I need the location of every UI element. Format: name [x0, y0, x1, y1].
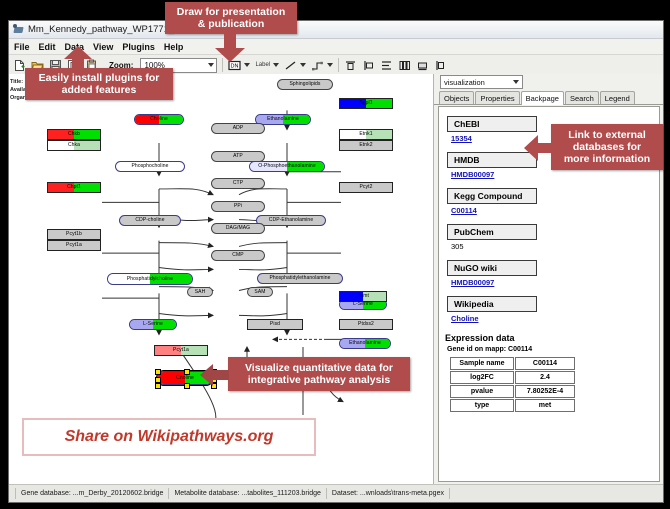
- cell-key-type: type: [450, 399, 514, 412]
- menu-item-plugins[interactable]: Plugins: [122, 42, 155, 52]
- status-dataset: Dataset: ...wnloads\trans-meta.pgex: [327, 488, 450, 499]
- tab-backpage[interactable]: Backpage: [521, 91, 564, 105]
- node-label: Chkb: [68, 132, 80, 137]
- visualization-value: visualization: [444, 78, 485, 87]
- node-label: CDP-choline: [135, 218, 164, 223]
- node-label: CTP: [233, 181, 243, 186]
- tab-objects[interactable]: Objects: [439, 91, 474, 104]
- gene-node-chka-1[interactable]: Chka: [47, 140, 101, 151]
- node-label: Ethanolamine: [267, 117, 299, 122]
- callout-links: Link to external databases for more info…: [551, 124, 663, 170]
- stack-icon[interactable]: [416, 59, 429, 72]
- metabolite-node-phosphocholine-3[interactable]: Phosphocholine: [115, 161, 185, 172]
- cell-value-sample-name: C00114: [515, 357, 575, 370]
- node-label: Pisd: [270, 322, 280, 327]
- node-label: Choline: [176, 376, 194, 381]
- node-label: PPi: [234, 204, 242, 209]
- menu-item-edit[interactable]: Edit: [39, 42, 56, 52]
- menu-bar[interactable]: File Edit Data View Plugins Help: [9, 39, 663, 55]
- chevron-down-icon: [513, 80, 519, 84]
- chevron-down-icon[interactable]: [273, 63, 279, 67]
- table-row: log2FC 2.4: [450, 371, 575, 384]
- node-label: L-Serine: [353, 302, 373, 307]
- node-label: L-Serine: [143, 322, 163, 327]
- tab-legend[interactable]: Legend: [600, 91, 635, 104]
- node-label: Chpt1: [67, 185, 81, 190]
- metabolite-node-ppi-cof3[interactable]: PPi: [211, 201, 265, 212]
- node-label: ATP: [233, 154, 243, 159]
- metabolite-node-cmp-cof5[interactable]: CMP: [211, 250, 265, 261]
- app-icon: [13, 24, 24, 35]
- callout-draw-line1: Draw for presentation: [177, 6, 286, 18]
- callout-links-arrow-icon: [524, 133, 554, 168]
- metabolite-node-adp-cof0[interactable]: ADP: [211, 123, 265, 134]
- callout-links-line1: Link to external: [568, 129, 646, 141]
- metabolite-node-ethanolamine-13[interactable]: Ethanolamine: [339, 338, 391, 349]
- chevron-down-icon[interactable]: [327, 63, 333, 67]
- callout-visualize-line1: Visualize quantitative data for: [245, 362, 393, 374]
- callout-plugins-line2: added features: [62, 84, 137, 96]
- line-icon[interactable]: [284, 59, 297, 72]
- table-row: Sample name C00114: [450, 357, 575, 370]
- distribute-icon[interactable]: [380, 59, 393, 72]
- share-banner-text: Share on Wikipathways.org: [65, 428, 274, 446]
- node-label: CDP-Ethanolamine: [269, 218, 313, 223]
- cell-value-pvalue: 7.80252E-4: [515, 385, 575, 398]
- chevron-down-icon[interactable]: [300, 63, 306, 67]
- metabolite-node-cdp-ethanolamine-6[interactable]: CDP-Ethanolamine: [256, 215, 326, 226]
- title-bar: Mm_Kennedy_pathway_WP1771_45176.gpml: [9, 21, 663, 39]
- section-header-wikipedia: Wikipedia: [447, 296, 537, 312]
- metabolite-node-l-serine-11[interactable]: L-Serine: [129, 319, 177, 330]
- metabolite-node-atp-cof1[interactable]: ATP: [211, 151, 265, 162]
- cell-value-type: met: [515, 399, 575, 412]
- metabolite-node-choline-1[interactable]: Choline: [134, 114, 184, 125]
- callout-draw-line2: & publication: [198, 18, 265, 30]
- node-label: Chka: [68, 143, 80, 148]
- table-row: type met: [450, 399, 575, 412]
- metabolite-node-dag-mag-cof4[interactable]: DAG/MAG: [211, 223, 265, 234]
- metabolite-node-o-phosphoethanolamine-4[interactable]: O-Phosphoethanolamine: [249, 161, 325, 172]
- node-label: Pemt: [357, 294, 369, 299]
- callout-plugins-arrow-icon: [62, 46, 94, 77]
- status-metabolite-database: Metabolite database: ...tabolites_111203…: [169, 488, 326, 499]
- gene-node-sgpl1-5[interactable]: Sgpl1: [339, 98, 393, 109]
- callout-draw: Draw for presentation & publication: [165, 2, 297, 34]
- cell-key-pvalue: pvalue: [450, 385, 514, 398]
- gene-node-chpt1-2[interactable]: Chpt1: [47, 182, 101, 193]
- cell-key-sample-name: Sample name: [450, 357, 514, 370]
- metabolite-node-sah-9[interactable]: SAH: [187, 287, 213, 297]
- screenshot-root: Mm_Kennedy_pathway_WP1771_45176.gpml Fil…: [0, 0, 670, 509]
- node-label: Phosphatidylethanolamine: [269, 276, 330, 281]
- gene-node-pcyt1b-3[interactable]: Pcyt1b: [47, 229, 101, 240]
- gene-node-pcyt2-8[interactable]: Pcyt2: [339, 182, 393, 193]
- selection-handle[interactable]: [184, 383, 190, 389]
- callout-links-line3: more information: [564, 153, 650, 165]
- node-label: Ptdss2: [358, 322, 374, 327]
- menu-item-file[interactable]: File: [14, 42, 30, 52]
- node-label: Etnk1: [359, 132, 372, 137]
- callout-visualize: Visualize quantitative data for integrat…: [228, 357, 410, 391]
- connector-icon[interactable]: [311, 59, 324, 72]
- node-label: Ethanolamine: [349, 341, 381, 346]
- selection-handle[interactable]: [155, 383, 161, 389]
- node-label: Pcyt1b: [66, 232, 82, 237]
- node-label: Sgpl1: [359, 101, 372, 106]
- share-banner: Share on Wikipathways.org: [22, 418, 316, 456]
- metabolite-node-sam-10[interactable]: SAM: [247, 287, 273, 297]
- section-link-kegg[interactable]: C00114: [451, 206, 659, 215]
- callout-visualize-arrow-icon: [200, 363, 230, 392]
- align-left-icon[interactable]: [362, 59, 375, 72]
- section-header-nugo: NuGO wiki: [447, 260, 537, 276]
- gene-node-pisd-10[interactable]: Pisd: [247, 319, 303, 330]
- cell-value-log2fc: 2.4: [515, 371, 575, 384]
- section-link-hmdb[interactable]: HMDB00097: [451, 170, 659, 179]
- node-label: Choline: [150, 117, 168, 122]
- visualization-row: visualization: [434, 74, 663, 90]
- node-label: Pcyt2: [359, 185, 372, 190]
- node-label: SAH: [195, 290, 206, 295]
- menu-item-view[interactable]: View: [93, 42, 113, 52]
- node-label: Etnk2: [359, 143, 372, 148]
- metabolite-node-phosphatidylcholine-7[interactable]: Phosphatidylcholine: [107, 273, 193, 285]
- order-icon[interactable]: [434, 59, 447, 72]
- gene-node-etnk2-7[interactable]: Etnk2: [339, 140, 393, 151]
- callout-links-line2: databases for: [573, 141, 641, 153]
- callout-plugins-line1: Easily install plugins for: [39, 72, 160, 84]
- node-label: Sphingolipids: [289, 82, 320, 87]
- backpage-section: PubChem 305: [439, 215, 659, 251]
- node-label: Pcyt1a: [173, 348, 189, 353]
- section-header-chebi: ChEBI: [447, 116, 537, 132]
- node-label: Pcyt1a: [66, 243, 82, 248]
- section-link-wikipedia[interactable]: Choline: [451, 314, 659, 323]
- side-pane-tabs[interactable]: Objects Properties Backpage Search Legen…: [434, 90, 663, 105]
- expression-table: Sample name C00114 log2FC 2.4 pvalue 7.8…: [449, 356, 576, 413]
- cell-key-log2fc: log2FC: [450, 371, 514, 384]
- metabolite-node-ethanolamine-2[interactable]: Ethanolamine: [255, 114, 311, 125]
- backpage-section: NuGO wiki HMDB00097: [439, 251, 659, 287]
- menu-item-help[interactable]: Help: [164, 42, 184, 52]
- node-label: SAM: [254, 290, 265, 295]
- gene-node-etnk1-6[interactable]: Etnk1: [339, 129, 393, 140]
- callout-visualize-line2: integrative pathway analysis: [248, 374, 390, 386]
- gene-node-pcyt1a-12[interactable]: Pcyt1a: [154, 345, 208, 356]
- metabolite-node-ctp-cof2[interactable]: CTP: [211, 178, 265, 189]
- metabolite-node-cdp-choline-5[interactable]: CDP-choline: [119, 215, 181, 226]
- gene-id-line: Gene id on mapp: C00114: [447, 346, 659, 353]
- section-link-nugo[interactable]: HMDB00097: [451, 278, 659, 287]
- section-header-pubchem: PubChem: [447, 224, 537, 240]
- gene-node-pcyt1a-4[interactable]: Pcyt1a: [47, 240, 101, 251]
- node-label: ADP: [233, 126, 244, 131]
- tab-search[interactable]: Search: [565, 91, 599, 104]
- size-icon[interactable]: [398, 59, 411, 72]
- metabolite-node-sphingolipids-0[interactable]: Sphingolipids: [277, 79, 333, 90]
- gene-node-chkb-0[interactable]: Chkb: [47, 129, 101, 140]
- expression-data-title: Expression data: [445, 333, 659, 343]
- node-label: Phosphatidylcholine: [127, 277, 173, 282]
- label-tool-label: Label: [255, 62, 270, 68]
- section-header-kegg: Kegg Compound: [447, 188, 537, 204]
- node-label: Phosphocholine: [132, 164, 169, 169]
- align-top-icon[interactable]: [344, 59, 357, 72]
- node-label: DAG/MAG: [226, 226, 250, 231]
- node-label: O-Phosphoethanolamine: [258, 164, 315, 169]
- callout-plugins: Easily install plugins for added feature…: [25, 68, 173, 100]
- toolbar-separator: [338, 58, 339, 72]
- status-bar: Gene database: ...m_Derby_20120602.bridg…: [9, 484, 663, 502]
- tab-properties[interactable]: Properties: [475, 91, 519, 104]
- callout-draw-arrow-icon: [213, 33, 247, 68]
- node-label: CMP: [232, 253, 243, 258]
- backpage-section: Wikipedia Choline: [439, 287, 659, 323]
- table-row: pvalue 7.80252E-4: [450, 385, 575, 398]
- visualization-select[interactable]: visualization: [440, 75, 523, 89]
- selection-handle[interactable]: [155, 369, 161, 375]
- gene-node-ptdss2-11[interactable]: Ptdss2: [339, 319, 393, 330]
- metabolite-node-phosphatidylethanolamine-8[interactable]: Phosphatidylethanolamine: [257, 273, 343, 284]
- status-gene-database: Gene database: ...m_Derby_20120602.bridg…: [15, 488, 169, 499]
- backpage-section: Kegg Compound C00114: [439, 179, 659, 215]
- section-value-pubchem: 305: [451, 242, 659, 251]
